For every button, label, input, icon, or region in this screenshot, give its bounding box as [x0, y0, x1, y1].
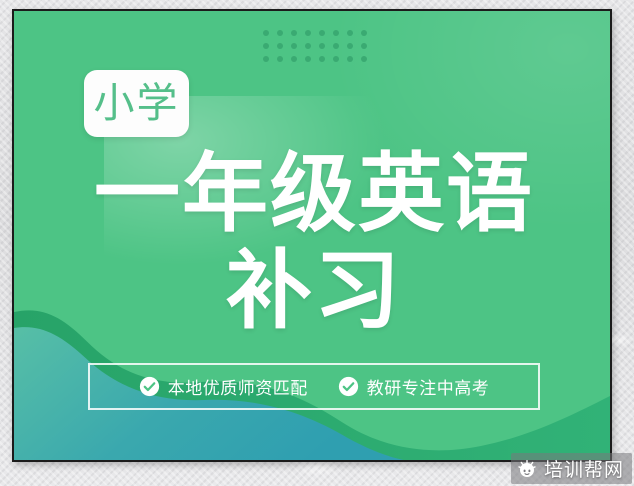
check-circle-icon	[338, 376, 359, 397]
poster-title-line-1: 一年级英语	[14, 146, 612, 242]
dot	[361, 30, 367, 36]
dot	[277, 30, 283, 36]
dot	[319, 56, 325, 62]
dot	[319, 30, 325, 36]
dot	[319, 43, 325, 49]
dot	[361, 56, 367, 62]
feature-item: 本地优质师资匹配	[139, 374, 308, 399]
dot	[263, 56, 269, 62]
watermark: 培训帮网	[511, 453, 632, 484]
check-circle-icon	[139, 376, 160, 397]
dot	[291, 56, 297, 62]
feature-item: 教研专注中高考	[338, 374, 490, 399]
sun-face-logo-icon	[517, 459, 537, 479]
dot	[277, 56, 283, 62]
dot	[333, 30, 339, 36]
feature-highlight-box: 本地优质师资匹配 教研专注中高考	[88, 363, 540, 410]
feature-item-label: 本地优质师资匹配	[168, 374, 308, 399]
dot	[361, 43, 367, 49]
dot	[333, 56, 339, 62]
dot-grid-decoration	[263, 30, 375, 69]
dot	[305, 56, 311, 62]
watermark-label: 培训帮网	[544, 455, 624, 482]
poster-title-line-2: 补习	[14, 243, 612, 339]
feature-item-label: 教研专注中高考	[367, 374, 490, 399]
dot	[347, 30, 353, 36]
grade-level-badge-label: 小学	[94, 83, 180, 124]
grade-level-badge: 小学	[84, 70, 189, 137]
dot	[263, 30, 269, 36]
dot	[291, 30, 297, 36]
poster-card: 小学 一年级英语 补习	[12, 9, 612, 462]
page-backdrop: 小学 一年级英语 补习	[0, 0, 634, 486]
dot	[347, 43, 353, 49]
dot	[333, 43, 339, 49]
dot	[277, 43, 283, 49]
dot	[347, 56, 353, 62]
dot	[263, 43, 269, 49]
dot	[305, 30, 311, 36]
dot	[291, 43, 297, 49]
dot	[305, 43, 311, 49]
